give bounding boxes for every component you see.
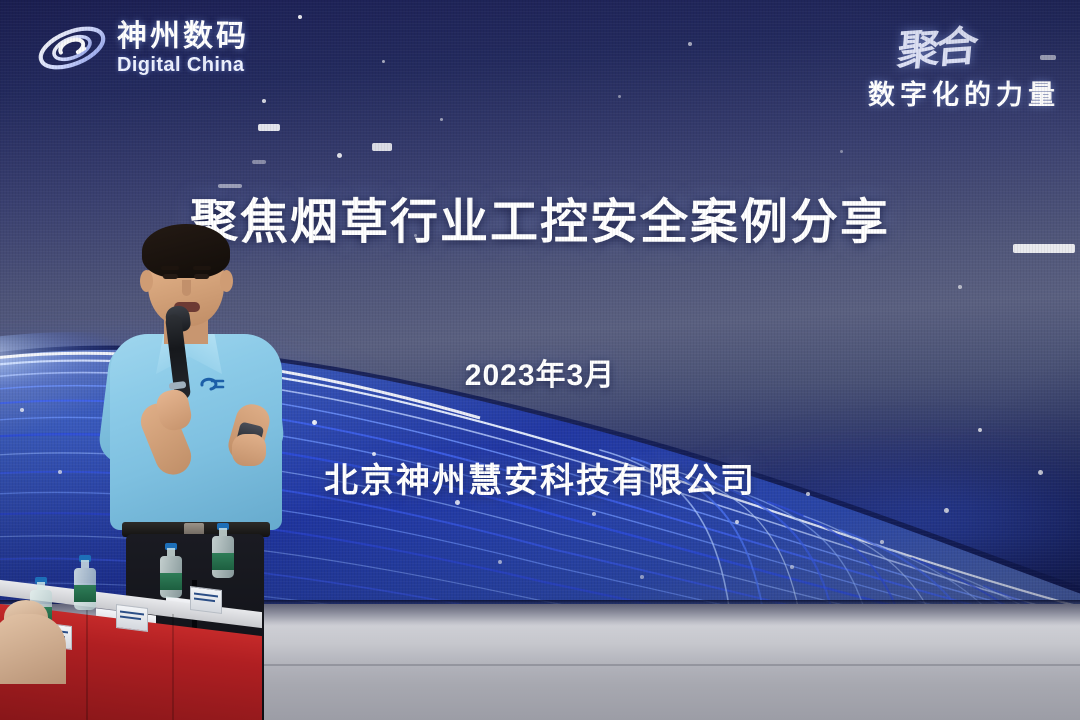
presenter-eyebrow-left — [161, 266, 179, 270]
water-bottle — [212, 524, 234, 578]
table-cloth-fold — [86, 610, 88, 720]
presenter-ear-right — [220, 270, 233, 292]
event-brand-tagline: 数字化的力量 — [868, 73, 1060, 112]
presenter-nose — [182, 280, 191, 296]
attendee-shoulder — [0, 614, 66, 684]
event-brand: 聚合 数字化的力量 — [868, 16, 1060, 112]
event-brand-calligraphy: 聚合 — [865, 12, 977, 80]
logo-name-cn: 神州数码 — [117, 22, 249, 52]
presenter-hair — [142, 224, 230, 278]
shirt-logo-icon — [200, 372, 226, 392]
digital-china-logo: 神州数码 Digital China — [36, 18, 249, 78]
presenter-eye-right — [194, 274, 209, 279]
digital-china-swirl-logo-icon — [36, 18, 108, 78]
water-bottle — [160, 544, 182, 598]
conference-photo: 神州数码 Digital China 聚合 数字化的力量 聚焦烟草行业工控安全案… — [0, 0, 1080, 720]
table-cloth-fold — [172, 614, 174, 720]
presenter-ear-left — [140, 270, 153, 292]
name-card — [116, 604, 148, 632]
name-card — [190, 586, 222, 614]
water-bottle — [74, 556, 96, 610]
presenter-right-hand — [232, 434, 266, 466]
logo-name-en: Digital China — [117, 55, 249, 75]
presenter-eye-left — [163, 274, 178, 279]
presenter-eyebrow-right — [193, 266, 211, 270]
